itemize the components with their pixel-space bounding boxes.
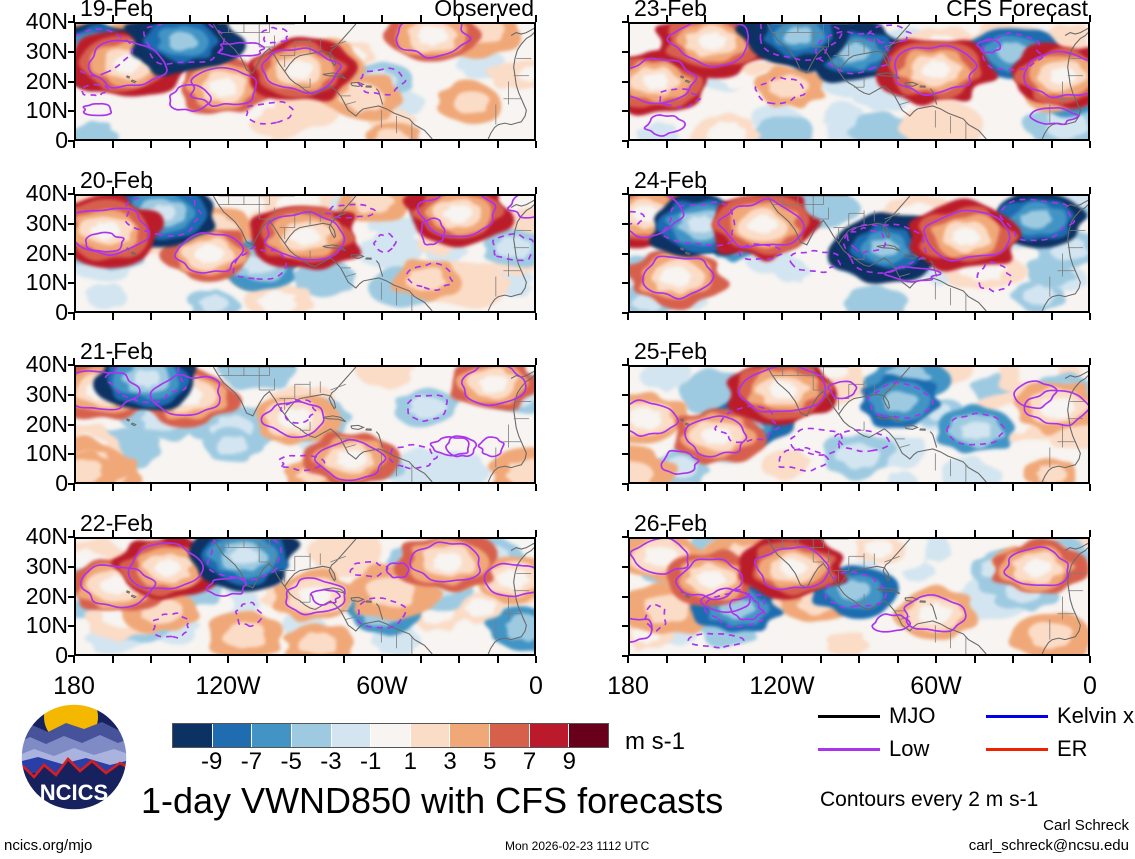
x-axis-tick	[820, 530, 822, 537]
colorbar-tick-label: 1	[404, 750, 417, 774]
x-axis-tick	[627, 484, 629, 491]
x-axis-tick	[858, 358, 860, 365]
y-axis-label: 30N	[26, 40, 68, 63]
x-axis-tick	[1012, 141, 1014, 148]
colorbar	[172, 723, 609, 748]
y-axis-labels: 40N30N20N10N0	[2, 537, 68, 656]
x-axis-tick	[112, 15, 114, 22]
x-axis-tick	[666, 358, 668, 365]
x-axis-tick	[974, 358, 976, 365]
x-axis-tick	[743, 141, 745, 148]
x-axis-tick	[1089, 358, 1091, 365]
y-axis-tick	[622, 51, 629, 53]
y-axis-tick	[622, 424, 629, 426]
y-axis-label: 30N	[26, 555, 68, 578]
y-axis-tick	[68, 282, 75, 284]
x-axis-tick	[1089, 15, 1091, 22]
x-axis-tick	[627, 358, 629, 365]
x-axis-tick	[1012, 313, 1014, 320]
x-axis-tick	[781, 484, 783, 491]
x-axis-tick	[73, 187, 75, 194]
x-axis-tick	[974, 141, 976, 148]
x-axis-tick	[974, 187, 976, 194]
x-axis-tick	[458, 15, 460, 22]
panel-date-label: 26-Feb	[634, 512, 707, 535]
y-axis-labels: 40N30N20N10N0	[2, 22, 68, 141]
y-axis-label: 0	[55, 129, 68, 152]
x-axis-tick	[974, 484, 976, 491]
x-axis-tick	[420, 358, 422, 365]
x-axis-tick	[497, 358, 499, 365]
y-axis-tick	[68, 394, 75, 396]
generated-timestamp: Mon 2026-02-23 1112 UTC	[505, 840, 649, 852]
column-header: Observed	[434, 0, 534, 20]
x-axis-tick	[1012, 484, 1014, 491]
x-axis-tick	[743, 530, 745, 537]
x-axis-tick	[343, 530, 345, 537]
x-axis-tick	[974, 530, 976, 537]
legend-item: MJO	[818, 705, 935, 727]
x-axis-tick	[627, 141, 629, 148]
x-axis-tick	[974, 15, 976, 22]
x-axis-tick	[535, 484, 537, 491]
x-axis-tick	[781, 187, 783, 194]
x-axis-tick	[1051, 656, 1053, 663]
x-axis-labels-left: 180120W60W0	[74, 674, 536, 704]
x-axis-tick	[1089, 313, 1091, 320]
x-axis-labels-right: 180120W60W0	[628, 674, 1090, 704]
x-axis-tick	[112, 656, 114, 663]
x-axis-tick	[820, 141, 822, 148]
x-axis-tick	[897, 15, 899, 22]
x-axis-tick	[1089, 187, 1091, 194]
colorbar-swatch	[332, 724, 372, 747]
y-axis-tick	[622, 625, 629, 627]
x-axis-tick	[743, 313, 745, 320]
colorbar-tick-label: -1	[360, 750, 381, 774]
y-axis-label: 30N	[26, 383, 68, 406]
x-axis-tick	[112, 313, 114, 320]
legend-line-swatch	[986, 715, 1048, 718]
x-axis-label: 0	[1083, 674, 1097, 699]
x-axis-tick	[73, 484, 75, 491]
wave-legend: MJOKelvin x2LowER	[818, 705, 1118, 767]
x-axis-tick	[304, 187, 306, 194]
x-axis-tick	[73, 530, 75, 537]
x-axis-tick	[535, 530, 537, 537]
x-axis-tick	[420, 484, 422, 491]
x-axis-tick	[497, 313, 499, 320]
x-axis-tick	[227, 313, 229, 320]
x-axis-tick	[666, 141, 668, 148]
map-panel: 23-FebCFS Forecast	[628, 22, 1090, 141]
x-axis-label: 120W	[195, 674, 260, 699]
x-axis-tick	[227, 484, 229, 491]
y-axis-label: 0	[55, 472, 68, 495]
x-axis-tick	[189, 484, 191, 491]
x-axis-tick	[304, 141, 306, 148]
x-axis-tick	[627, 530, 629, 537]
y-axis-tick	[622, 110, 629, 112]
x-axis-tick	[781, 656, 783, 663]
x-axis-tick	[227, 15, 229, 22]
x-axis-tick	[227, 358, 229, 365]
x-axis-tick	[858, 484, 860, 491]
x-axis-tick	[897, 484, 899, 491]
x-axis-tick	[704, 187, 706, 194]
x-axis-tick	[381, 141, 383, 148]
x-axis-tick	[343, 656, 345, 663]
x-axis-tick	[381, 358, 383, 365]
x-axis-tick	[150, 358, 152, 365]
x-axis-tick	[858, 313, 860, 320]
colorbar-tick-label: 7	[523, 750, 536, 774]
map-panel: 25-Feb	[628, 365, 1090, 484]
y-axis-label: 10N	[26, 442, 68, 465]
x-axis-tick	[266, 187, 268, 194]
x-axis-tick	[935, 656, 937, 663]
x-axis-tick	[1012, 187, 1014, 194]
colorbar-tick-label: 3	[443, 750, 456, 774]
x-axis-tick	[974, 656, 976, 663]
x-axis-tick	[266, 313, 268, 320]
x-axis-tick	[535, 358, 537, 365]
x-axis-tick	[189, 530, 191, 537]
x-axis-tick	[420, 313, 422, 320]
x-axis-tick	[781, 15, 783, 22]
x-axis-tick	[704, 141, 706, 148]
y-axis-tick	[68, 625, 75, 627]
x-axis-tick	[266, 656, 268, 663]
x-axis-tick	[743, 187, 745, 194]
x-axis-tick	[1051, 484, 1053, 491]
x-axis-tick	[704, 15, 706, 22]
colorbar-swatch	[569, 724, 608, 747]
map-panel: 22-Feb40N30N20N10N0	[74, 537, 536, 656]
x-axis-tick	[858, 530, 860, 537]
panel-date-label: 22-Feb	[80, 512, 153, 535]
x-axis-tick	[1051, 187, 1053, 194]
x-axis-tick	[1089, 656, 1091, 663]
x-axis-tick	[150, 484, 152, 491]
x-axis-tick	[627, 656, 629, 663]
x-axis-tick	[666, 530, 668, 537]
x-axis-tick	[189, 187, 191, 194]
x-axis-tick	[189, 358, 191, 365]
map-field	[628, 22, 1090, 141]
x-axis-tick	[935, 313, 937, 320]
x-axis-tick	[343, 358, 345, 365]
x-axis-tick	[1012, 530, 1014, 537]
x-axis-label: 120W	[749, 674, 814, 699]
x-axis-tick	[666, 187, 668, 194]
x-axis-tick	[820, 15, 822, 22]
x-axis-tick	[381, 656, 383, 663]
x-axis-tick	[73, 358, 75, 365]
author-name: Carl Schreck	[1043, 818, 1129, 833]
x-axis-tick	[1051, 313, 1053, 320]
x-axis-tick	[227, 656, 229, 663]
map-field	[74, 365, 536, 484]
map-panel: 21-Feb40N30N20N10N0	[74, 365, 536, 484]
x-axis-tick	[627, 15, 629, 22]
x-axis-tick	[381, 484, 383, 491]
x-axis-tick	[150, 656, 152, 663]
y-axis-label: 0	[55, 644, 68, 667]
x-axis-tick	[189, 141, 191, 148]
y-axis-label: 0	[55, 301, 68, 324]
x-axis-tick	[535, 141, 537, 148]
x-axis-tick	[535, 187, 537, 194]
x-axis-tick	[781, 358, 783, 365]
x-axis-tick	[897, 530, 899, 537]
x-axis-tick	[343, 313, 345, 320]
y-axis-label: 20N	[26, 413, 68, 436]
x-axis-tick	[1051, 15, 1053, 22]
y-axis-labels: 40N30N20N10N0	[2, 365, 68, 484]
x-axis-tick	[112, 484, 114, 491]
y-axis-tick	[68, 51, 75, 53]
legend-line-swatch	[818, 715, 880, 718]
y-axis-tick	[68, 110, 75, 112]
x-axis-tick	[704, 656, 706, 663]
map-field	[74, 537, 536, 656]
legend-label: ER	[1057, 738, 1088, 760]
x-axis-tick	[497, 530, 499, 537]
y-axis-tick	[622, 282, 629, 284]
x-axis-tick	[150, 530, 152, 537]
contour-interval-note: Contours every 2 m s-1	[820, 789, 1038, 810]
x-axis-tick	[189, 15, 191, 22]
colorbar-swatch	[213, 724, 253, 747]
x-axis-tick	[743, 358, 745, 365]
x-axis-tick	[820, 656, 822, 663]
colorbar-ticklabels: -9-7-5-3-113579	[172, 750, 609, 776]
x-axis-tick	[266, 358, 268, 365]
map-panel: 26-Feb	[628, 537, 1090, 656]
y-axis-labels: 40N30N20N10N0	[2, 194, 68, 313]
page-title: 1-day VWND850 with CFS forecasts	[141, 783, 723, 819]
y-axis-label: 20N	[26, 70, 68, 93]
x-axis-tick	[1051, 358, 1053, 365]
y-axis-tick	[622, 596, 629, 598]
x-axis-tick	[1089, 530, 1091, 537]
x-axis-tick	[343, 187, 345, 194]
x-axis-label: 0	[529, 674, 543, 699]
x-axis-tick	[535, 313, 537, 320]
x-axis-tick	[112, 141, 114, 148]
colorbar-tick-label: -3	[320, 750, 341, 774]
panel-date-label: 21-Feb	[80, 340, 153, 363]
x-axis-tick	[304, 656, 306, 663]
x-axis-tick	[858, 656, 860, 663]
x-axis-label: 60W	[356, 674, 407, 699]
x-axis-tick	[150, 187, 152, 194]
x-axis-tick	[343, 15, 345, 22]
x-axis-tick	[304, 15, 306, 22]
x-axis-tick	[420, 141, 422, 148]
legend-item: Kelvin x2	[986, 705, 1135, 727]
x-axis-tick	[420, 656, 422, 663]
x-axis-tick	[304, 484, 306, 491]
colorbar-swatch	[450, 724, 490, 747]
panel-date-label: 23-Feb	[634, 0, 707, 20]
map-panel: 24-Feb	[628, 194, 1090, 313]
x-axis-tick	[820, 484, 822, 491]
x-axis-tick	[73, 15, 75, 22]
y-axis-tick	[68, 596, 75, 598]
x-axis-tick	[781, 313, 783, 320]
x-axis-tick	[704, 358, 706, 365]
x-axis-tick	[535, 656, 537, 663]
author-email[interactable]: carl_schreck@ncsu.edu	[969, 838, 1129, 853]
map-field	[74, 194, 536, 313]
x-axis-tick	[897, 187, 899, 194]
y-axis-label: 40N	[26, 353, 68, 376]
x-axis-tick	[420, 187, 422, 194]
x-axis-tick	[1089, 141, 1091, 148]
x-axis-tick	[781, 530, 783, 537]
x-axis-tick	[743, 484, 745, 491]
x-axis-tick	[781, 141, 783, 148]
colorbar-swatch	[530, 724, 570, 747]
colorbar-swatch	[173, 724, 213, 747]
x-axis-tick	[266, 484, 268, 491]
colorbar-tick-label: 5	[483, 750, 496, 774]
y-axis-label: 40N	[26, 525, 68, 548]
x-axis-tick	[704, 313, 706, 320]
x-axis-tick	[627, 313, 629, 320]
panel-date-label: 19-Feb	[80, 0, 153, 20]
colorbar-swatch	[411, 724, 451, 747]
y-axis-label: 10N	[26, 614, 68, 637]
y-axis-tick	[622, 253, 629, 255]
x-axis-tick	[666, 313, 668, 320]
y-axis-tick	[68, 424, 75, 426]
x-axis-tick	[497, 15, 499, 22]
map-field	[628, 537, 1090, 656]
x-axis-tick	[666, 15, 668, 22]
x-axis-tick	[112, 358, 114, 365]
x-axis-tick	[304, 313, 306, 320]
x-axis-tick	[935, 530, 937, 537]
legend-label: MJO	[889, 705, 935, 727]
x-axis-tick	[820, 358, 822, 365]
x-axis-tick	[627, 187, 629, 194]
colorbar-tick-label: 9	[563, 750, 576, 774]
x-axis-tick	[858, 15, 860, 22]
x-axis-tick	[227, 187, 229, 194]
x-axis-tick	[535, 15, 537, 22]
panel-date-label: 25-Feb	[634, 340, 707, 363]
x-axis-tick	[935, 187, 937, 194]
colorbar-tick-label: -7	[241, 750, 262, 774]
x-axis-tick	[227, 141, 229, 148]
map-field	[628, 194, 1090, 313]
x-axis-tick	[935, 484, 937, 491]
x-axis-tick	[666, 656, 668, 663]
x-axis-tick	[189, 656, 191, 663]
y-axis-tick	[68, 566, 75, 568]
column-header: CFS Forecast	[946, 0, 1088, 20]
x-axis-tick	[458, 530, 460, 537]
svg-text:NCICS: NCICS	[40, 780, 108, 805]
y-axis-label: 30N	[26, 212, 68, 235]
y-axis-tick	[622, 394, 629, 396]
x-axis-tick	[343, 484, 345, 491]
y-axis-label: 10N	[26, 271, 68, 294]
x-axis-tick	[897, 141, 899, 148]
x-axis-tick	[1012, 358, 1014, 365]
x-axis-tick	[420, 530, 422, 537]
x-axis-tick	[458, 313, 460, 320]
colorbar-swatch	[252, 724, 292, 747]
x-axis-tick	[458, 358, 460, 365]
map-field	[74, 22, 536, 141]
x-axis-tick	[897, 656, 899, 663]
x-axis-tick	[150, 313, 152, 320]
map-field	[628, 365, 1090, 484]
legend-line-swatch	[986, 748, 1048, 751]
x-axis-tick	[1012, 656, 1014, 663]
x-axis-tick	[704, 530, 706, 537]
ncics-logo: NCICS	[14, 701, 134, 814]
x-axis-tick	[304, 530, 306, 537]
x-axis-tick	[343, 141, 345, 148]
colorbar-unit-label: m s-1	[625, 730, 685, 754]
x-axis-tick	[458, 141, 460, 148]
y-axis-tick	[622, 566, 629, 568]
x-axis-tick	[497, 656, 499, 663]
x-axis-tick	[704, 484, 706, 491]
x-axis-tick	[497, 187, 499, 194]
legend-item: ER	[986, 738, 1088, 760]
y-axis-tick	[68, 253, 75, 255]
x-axis-tick	[820, 187, 822, 194]
x-axis-tick	[1051, 530, 1053, 537]
y-axis-label: 10N	[26, 99, 68, 122]
x-axis-tick	[497, 484, 499, 491]
x-axis-tick	[266, 141, 268, 148]
x-axis-tick	[743, 656, 745, 663]
colorbar-swatch	[490, 724, 530, 747]
colorbar-swatch	[292, 724, 332, 747]
y-axis-tick	[68, 453, 75, 455]
x-axis-tick	[935, 15, 937, 22]
y-axis-label: 20N	[26, 242, 68, 265]
x-axis-tick	[381, 530, 383, 537]
y-axis-tick	[622, 81, 629, 83]
x-axis-tick	[150, 141, 152, 148]
x-axis-tick	[935, 358, 937, 365]
x-axis-tick	[897, 313, 899, 320]
x-axis-tick	[73, 656, 75, 663]
map-panel: 20-Feb40N30N20N10N0	[74, 194, 536, 313]
x-axis-tick	[420, 15, 422, 22]
site-url[interactable]: ncics.org/mjo	[4, 838, 92, 853]
x-axis-tick	[974, 313, 976, 320]
legend-item: Low	[818, 738, 929, 760]
x-axis-tick	[112, 187, 114, 194]
x-axis-tick	[381, 187, 383, 194]
y-axis-tick	[68, 81, 75, 83]
map-panel: 19-FebObserved40N30N20N10N0	[74, 22, 536, 141]
panel-date-label: 20-Feb	[80, 169, 153, 192]
y-axis-label: 40N	[26, 182, 68, 205]
x-axis-tick	[1012, 15, 1014, 22]
x-axis-tick	[150, 15, 152, 22]
x-axis-tick	[666, 484, 668, 491]
